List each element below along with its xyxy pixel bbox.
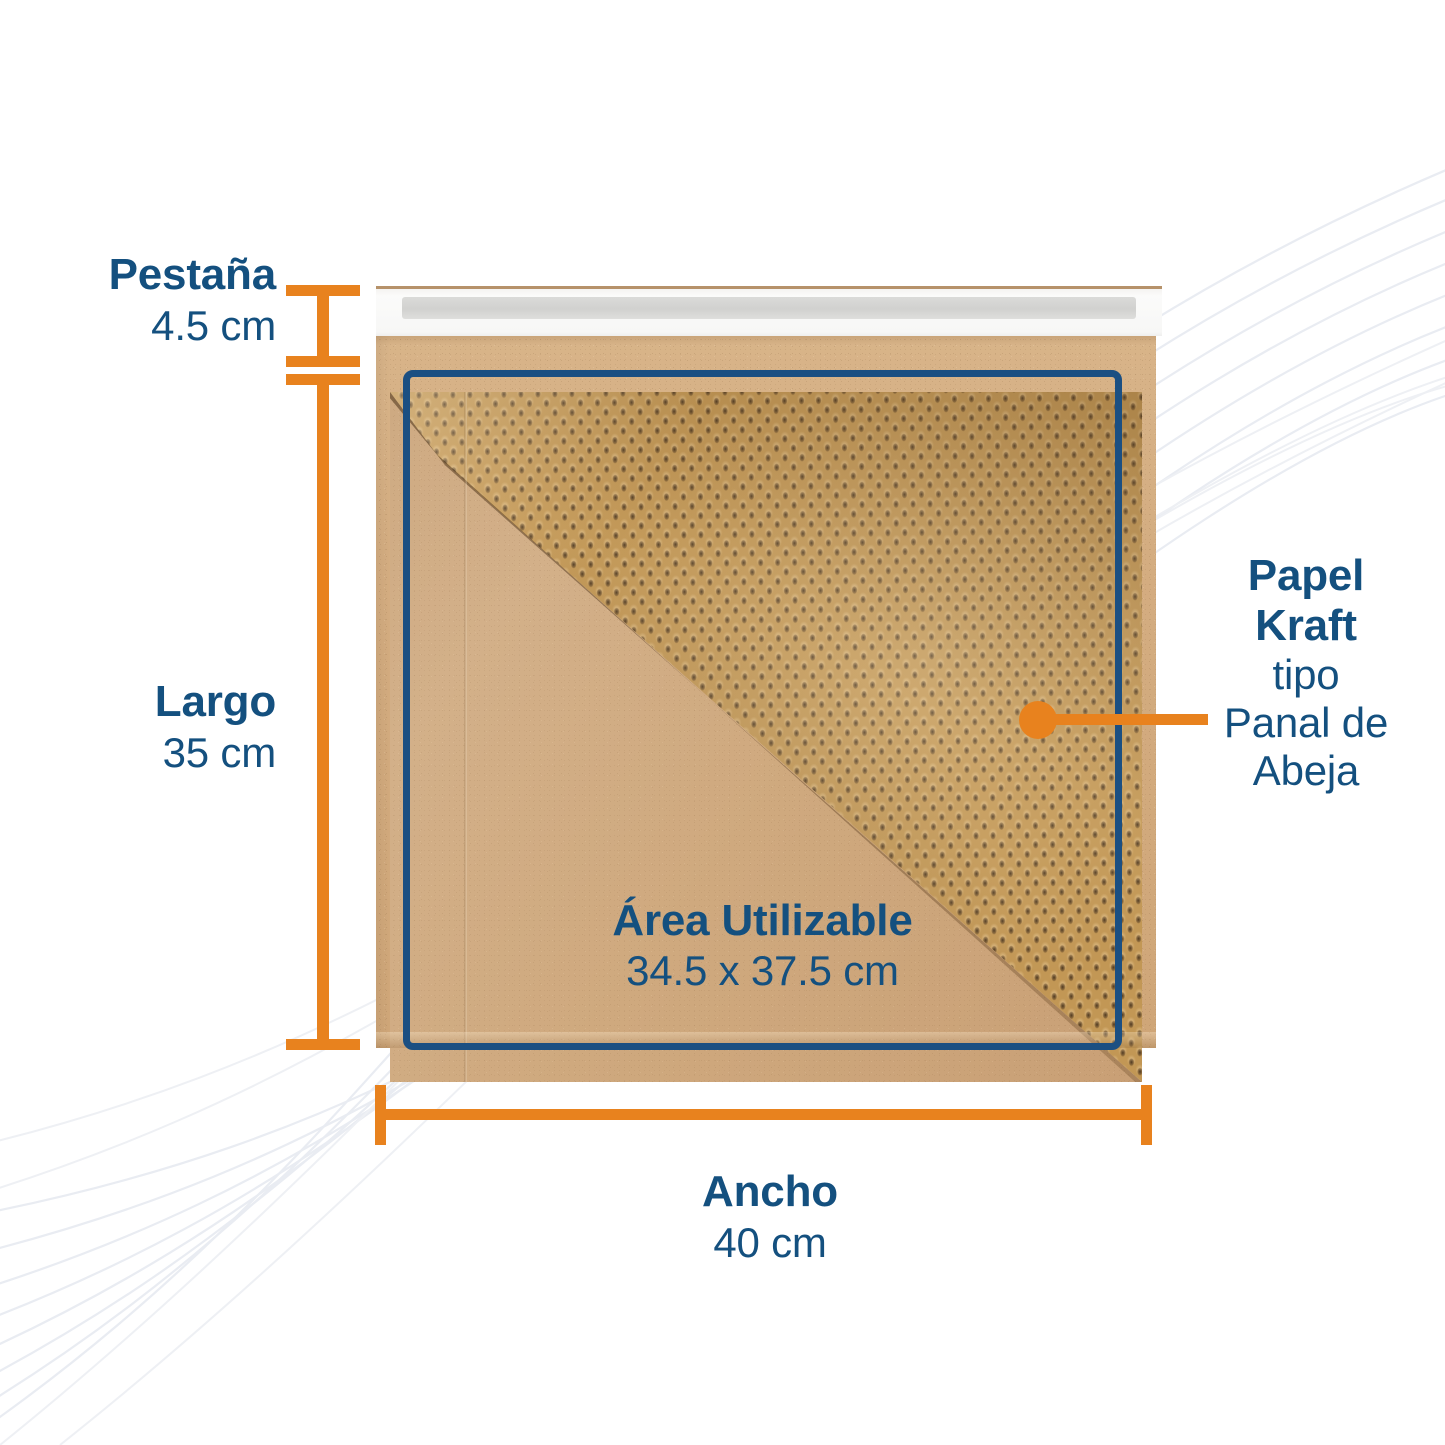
flap-dimension-line — [317, 285, 329, 367]
envelope-flap — [376, 286, 1162, 336]
material-label-desc1: tipo — [1172, 651, 1440, 699]
material-label-desc3: Abeja — [1172, 747, 1440, 795]
material-label: Papel Kraft tipo Panal de Abeja — [1172, 551, 1440, 795]
length-dimension-bottom-cap — [286, 1039, 360, 1050]
width-label: Ancho 40 cm — [540, 1168, 1000, 1267]
flap-label: Pestaña 4.5 cm — [0, 251, 276, 348]
usable-area-label: Área Utilizable 34.5 x 37.5 cm — [403, 896, 1122, 994]
diagram-canvas: Pestaña 4.5 cm Largo 35 cm Ancho 40 cm Á… — [0, 0, 1445, 1445]
flap-dimension-bottom-cap — [286, 356, 360, 367]
material-label-line2: Kraft — [1172, 601, 1440, 651]
material-label-line1: Papel — [1172, 551, 1440, 601]
width-label-value: 40 cm — [540, 1220, 1000, 1266]
width-label-name: Ancho — [540, 1168, 1000, 1216]
flap-label-value: 4.5 cm — [0, 303, 276, 348]
length-label: Largo 35 cm — [0, 678, 276, 775]
material-leader-dot — [1019, 701, 1057, 739]
flap-label-name: Pestaña — [0, 251, 276, 299]
width-dimension-line — [375, 1109, 1152, 1120]
width-dimension-right-cap — [1141, 1085, 1152, 1145]
adhesive-tape-strip — [402, 297, 1136, 319]
length-label-name: Largo — [0, 678, 276, 726]
material-label-desc2: Panal de — [1172, 699, 1440, 747]
usable-area-label-name: Área Utilizable — [403, 896, 1122, 945]
usable-area-label-value: 34.5 x 37.5 cm — [403, 947, 1122, 994]
length-label-value: 35 cm — [0, 730, 276, 775]
length-dimension-line — [317, 374, 329, 1050]
